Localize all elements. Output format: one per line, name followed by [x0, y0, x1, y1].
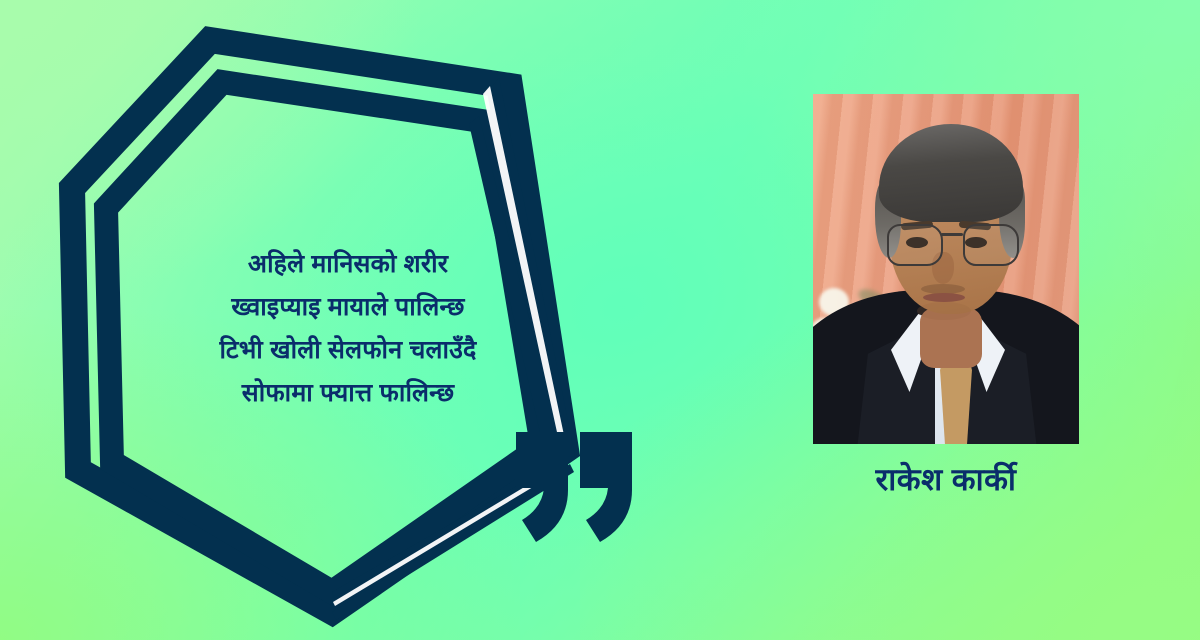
- glasses-lens-right: [963, 224, 1019, 266]
- portrait-mouth: [923, 293, 965, 302]
- portrait-photo: [813, 94, 1079, 444]
- quote-line-2: ख्वाइप्याइ मायाले पालिन्छ: [128, 286, 568, 329]
- quote-line-4: सोफामा फ्यात्त फालिन्छ: [128, 372, 568, 415]
- author-portrait: [813, 94, 1079, 444]
- quote-poster: अहिले मानिसको शरीर ख्वाइप्याइ मायाले पाल…: [0, 0, 1200, 640]
- portrait-glasses: [885, 224, 1017, 266]
- glasses-lens-left: [887, 224, 943, 266]
- quote-line-1: अहिले मानिसको शरीर: [128, 243, 568, 286]
- portrait-chin: [917, 302, 971, 320]
- quote-line-3: टिभी खोली सेलफोन चलाउँदै: [128, 329, 568, 372]
- quote-text-block: अहिले मानिसको शरीर ख्वाइप्याइ मायाले पाल…: [128, 243, 568, 415]
- glasses-bridge: [941, 233, 963, 236]
- author-name: राकेश कार्की: [813, 458, 1079, 500]
